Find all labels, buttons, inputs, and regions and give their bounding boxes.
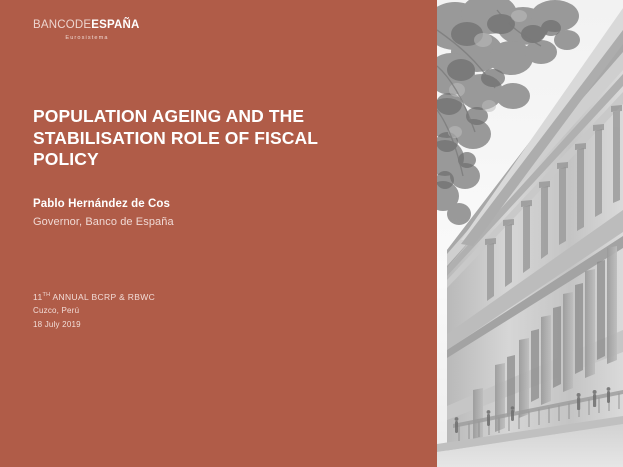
author-name: Pablo Hernández de Cos (33, 196, 363, 212)
author-role: Governor, Banco de España (33, 215, 363, 230)
logo-wordmark: BANCODEESPAÑA (33, 20, 223, 32)
presentation-slide: BANCODEESPAÑA Eurosistema POPULATION AGE… (0, 0, 623, 467)
event-name: 11TH ANNUAL BCRP & RBWC (33, 288, 363, 304)
slide-title: POPULATION AGEING AND THE STABILISATION … (33, 106, 363, 171)
logo-subtitle-eurosistema: Eurosistema (33, 35, 141, 41)
logo-word-banco: BANCODE (33, 19, 91, 31)
event-title-text: ANNUAL BCRP & RBWC (53, 292, 156, 302)
banco-de-espana-building-photo (437, 0, 623, 467)
event-date: 18 July 2019 (33, 318, 363, 332)
building-photo-illustration (437, 0, 623, 467)
event-venue: Cuzco, Perú (33, 304, 363, 318)
title-panel: BANCODEESPAÑA Eurosistema POPULATION AGE… (0, 0, 437, 467)
event-ordinal-suffix: TH (43, 292, 51, 298)
banco-de-espana-logo: BANCODEESPAÑA Eurosistema (33, 20, 223, 41)
author-block: Pablo Hernández de Cos Governor, Banco d… (33, 196, 363, 230)
event-block: 11TH ANNUAL BCRP & RBWC Cuzco, Perú 18 J… (33, 288, 363, 332)
logo-word-espana: ESPAÑA (91, 19, 139, 31)
event-ordinal: 11 (33, 292, 43, 302)
